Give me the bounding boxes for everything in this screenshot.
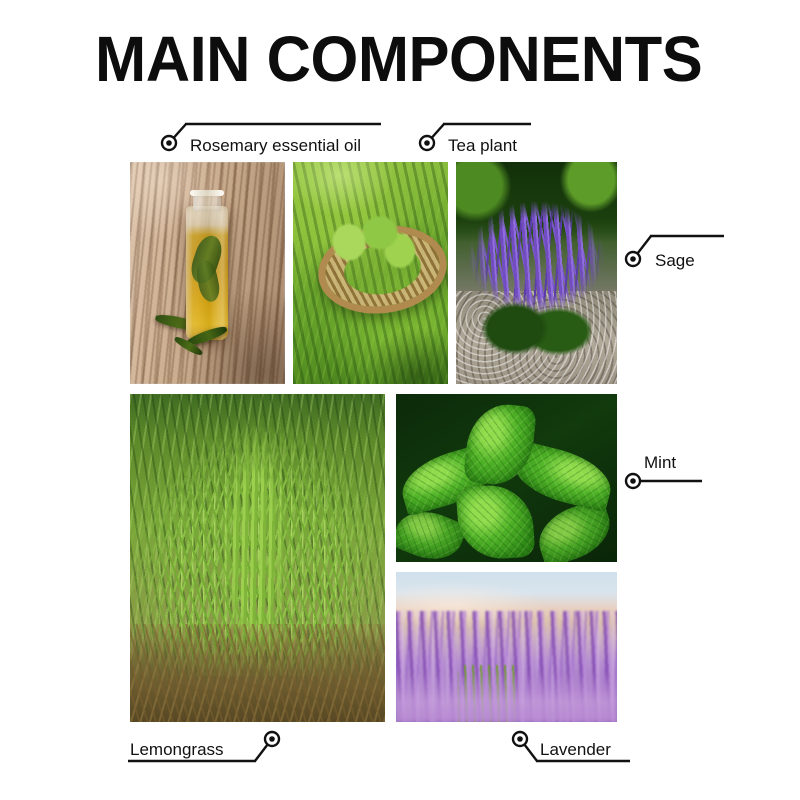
bottle-neck: [193, 194, 221, 212]
infographic-canvas: MAIN COMPONENTS: [0, 0, 800, 800]
lavender-foreground-blur: [396, 671, 617, 722]
callout-lemongrass[interactable]: Lemongrass: [128, 728, 288, 770]
picked-tea-leaves: [324, 211, 420, 282]
callout-label-rosemary: Rosemary essential oil: [190, 137, 361, 154]
callout-label-tea-plant: Tea plant: [448, 137, 517, 154]
mint-leader-line: [624, 448, 734, 490]
dried-grass-base: [130, 624, 385, 722]
callout-label-lemongrass: Lemongrass: [130, 741, 224, 758]
sage-basal-leaves: [482, 300, 591, 358]
sage-photo: [456, 162, 617, 384]
rosemary-oil-photo: [130, 162, 285, 384]
callout-lavender[interactable]: Lavender: [512, 728, 662, 770]
bottle-lip: [190, 190, 224, 196]
lavender-photo: [396, 572, 617, 722]
callout-label-lavender: Lavender: [540, 741, 611, 758]
lemongrass-photo: [130, 394, 385, 722]
callout-label-mint: Mint: [644, 454, 676, 471]
tea-plant-photo: [293, 162, 448, 384]
lemongrass-center-blades: [217, 420, 294, 656]
callout-rosemary[interactable]: Rosemary essential oil: [160, 118, 390, 152]
callout-sage[interactable]: Sage: [624, 228, 734, 268]
page-title: MAIN COMPONENTS: [95, 27, 702, 91]
mint-photo: [396, 394, 617, 562]
callout-tea-plant[interactable]: Tea plant: [418, 118, 538, 152]
callout-mint[interactable]: Mint: [624, 448, 734, 490]
callout-label-sage: Sage: [655, 252, 695, 269]
